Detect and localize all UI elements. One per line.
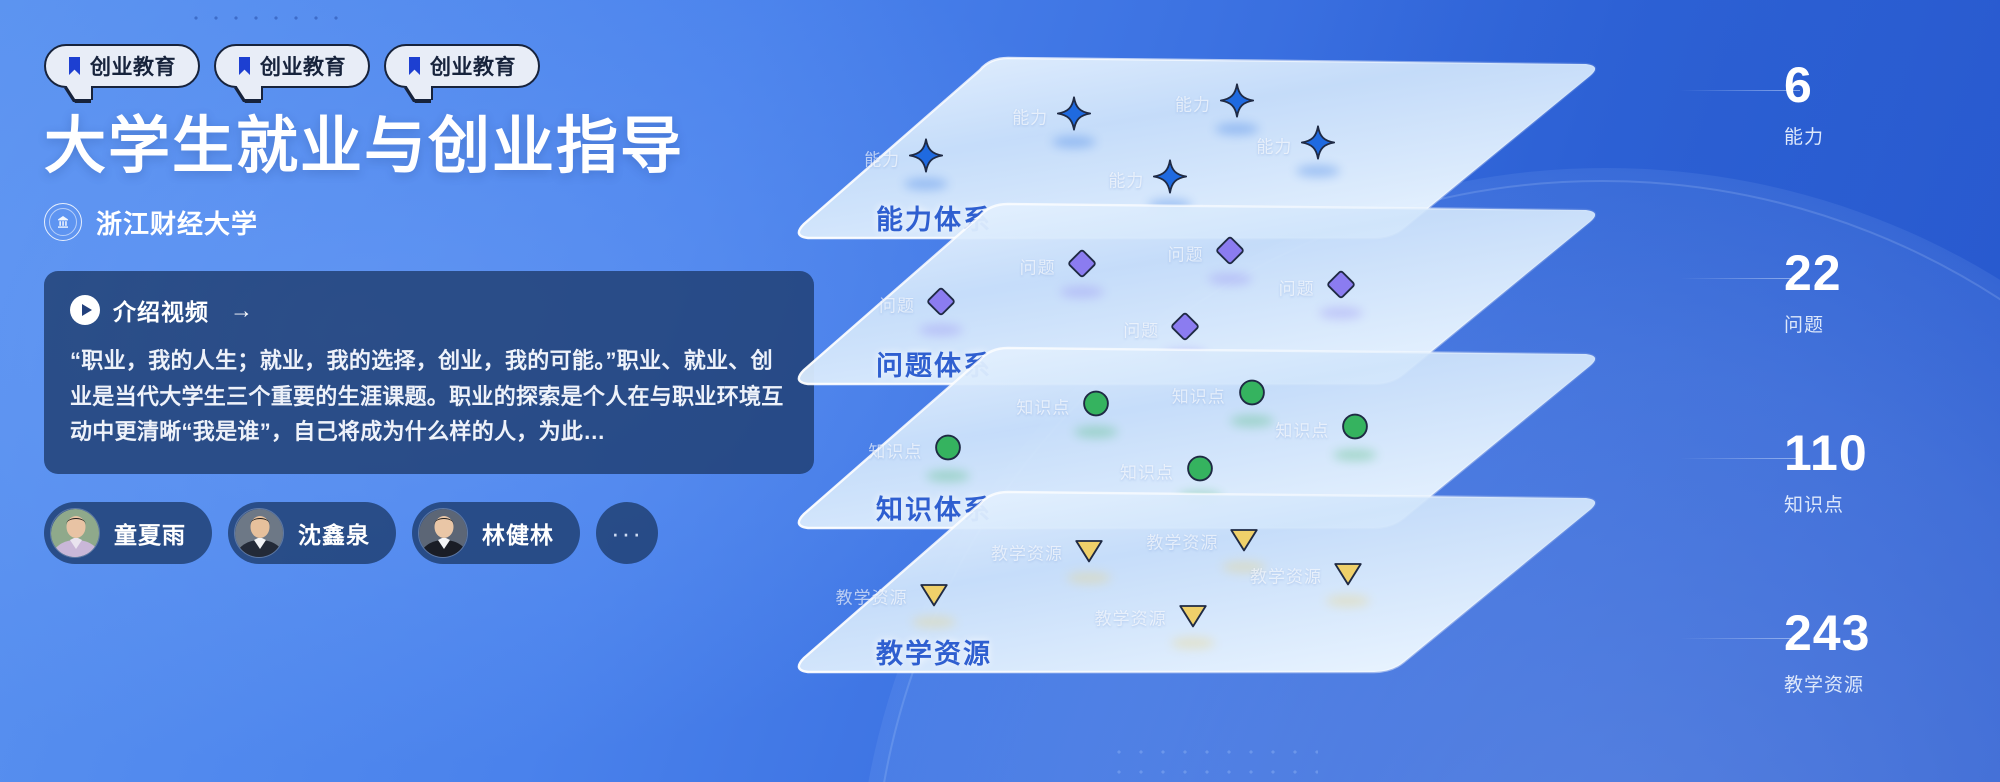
course-info-card: 介绍视频 → “职业，我的人生；就业，我的选择，创业，我的可能。”职业、就业、创…	[44, 271, 814, 474]
bookmark-icon	[68, 57, 81, 75]
teacher-name: 林健林	[482, 516, 554, 550]
stat-connector-line	[1680, 638, 1800, 639]
teacher-name: 童夏雨	[114, 516, 186, 550]
play-icon	[70, 295, 100, 325]
stat-connector-line	[1680, 90, 1800, 91]
category-tag[interactable]: 创业教育	[214, 44, 370, 88]
more-teachers-button[interactable]: ···	[596, 502, 658, 564]
stat-item: 243 教学资源	[1784, 608, 1870, 697]
stat-item: 6 能力	[1784, 60, 1824, 149]
teacher-item[interactable]: 沈鑫泉	[228, 502, 396, 564]
stat-value: 243	[1784, 608, 1870, 658]
bookmark-icon	[408, 57, 421, 75]
stat-item: 110 知识点	[1784, 428, 1868, 517]
stats-column: 6 能力 22 问题 110 知识点 243 教学资源	[1760, 0, 2000, 782]
page-title: 大学生就业与创业指导	[44, 110, 900, 183]
avatar	[234, 508, 284, 558]
teacher-name: 沈鑫泉	[298, 516, 370, 550]
teacher-list: 童夏雨 沈鑫泉 林健林 ···	[44, 502, 900, 564]
stat-item: 22 问题	[1784, 248, 1842, 337]
dot-grid-decoration-bottom	[1108, 742, 1318, 776]
teacher-item[interactable]: 林健林	[412, 502, 580, 564]
stat-connector-line	[1680, 278, 1800, 279]
stat-value: 6	[1784, 60, 1824, 110]
avatar	[418, 508, 468, 558]
category-tag-label: 创业教育	[90, 51, 176, 81]
course-header-panel: 创业教育 创业教育 创业教育 大学生就业与创业指导 浙江财经大学	[0, 0, 900, 782]
course-description: “职业，我的人生；就业，我的选择，创业，我的可能。”职业、就业、创业是当代大学生…	[70, 343, 788, 450]
bookmark-icon	[238, 57, 251, 75]
category-tag[interactable]: 创业教育	[384, 44, 540, 88]
university-row[interactable]: 浙江财经大学	[44, 203, 900, 241]
avatar	[50, 508, 100, 558]
stat-label: 教学资源	[1784, 670, 1870, 697]
intro-video-button[interactable]: 介绍视频 →	[70, 293, 788, 327]
category-tag-label: 创业教育	[260, 51, 346, 81]
university-name: 浙江财经大学	[96, 204, 258, 241]
stat-value: 22	[1784, 248, 1842, 298]
teacher-item[interactable]: 童夏雨	[44, 502, 212, 564]
stat-connector-line	[1680, 458, 1800, 459]
category-tag-row: 创业教育 创业教育 创业教育	[44, 44, 900, 88]
arrow-right-icon: →	[230, 297, 253, 324]
stat-label: 能力	[1784, 122, 1824, 149]
category-tag[interactable]: 创业教育	[44, 44, 200, 88]
intro-video-label: 介绍视频	[113, 293, 209, 327]
category-tag-label: 创业教育	[430, 51, 516, 81]
stat-label: 问题	[1784, 310, 1842, 337]
university-seal-icon	[44, 203, 82, 241]
stat-value: 110	[1784, 428, 1868, 478]
stat-label: 知识点	[1784, 490, 1868, 517]
